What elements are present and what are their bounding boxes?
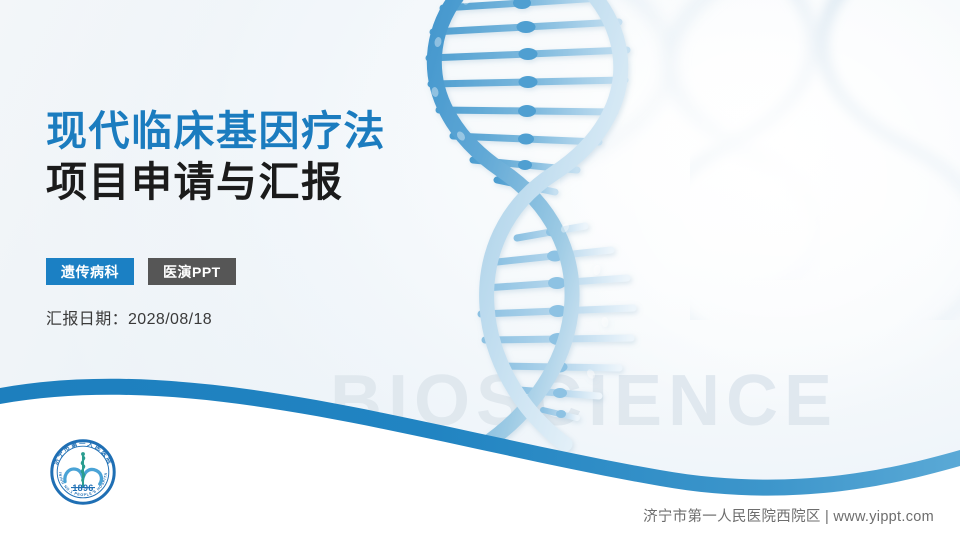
title-block: 现代临床基因疗法 项目申请与汇报 bbox=[46, 108, 606, 206]
footer-text: 济宁市第一人民医院西院区 | www.yippt.com bbox=[643, 505, 934, 526]
hospital-logo: 济宁市第一人民医院 JINING NO.1 PEOPLE'S HOSPITAL … bbox=[47, 436, 119, 508]
page-title-line2: 项目申请与汇报 bbox=[46, 159, 606, 207]
department-badge[interactable]: 遗传病科 bbox=[46, 258, 134, 285]
page-title-line1: 现代临床基因疗法 bbox=[46, 108, 606, 156]
logo-staff-tip-icon bbox=[81, 452, 85, 456]
brand-badge[interactable]: 医演PPT bbox=[148, 258, 236, 285]
badge-row: 遗传病科 医演PPT bbox=[46, 258, 236, 285]
logo-year: 1896 bbox=[72, 483, 93, 493]
presentation-title-slide: BIOSCIENCE bbox=[0, 0, 960, 540]
report-date: 汇报日期：2028/08/18 bbox=[46, 305, 212, 329]
